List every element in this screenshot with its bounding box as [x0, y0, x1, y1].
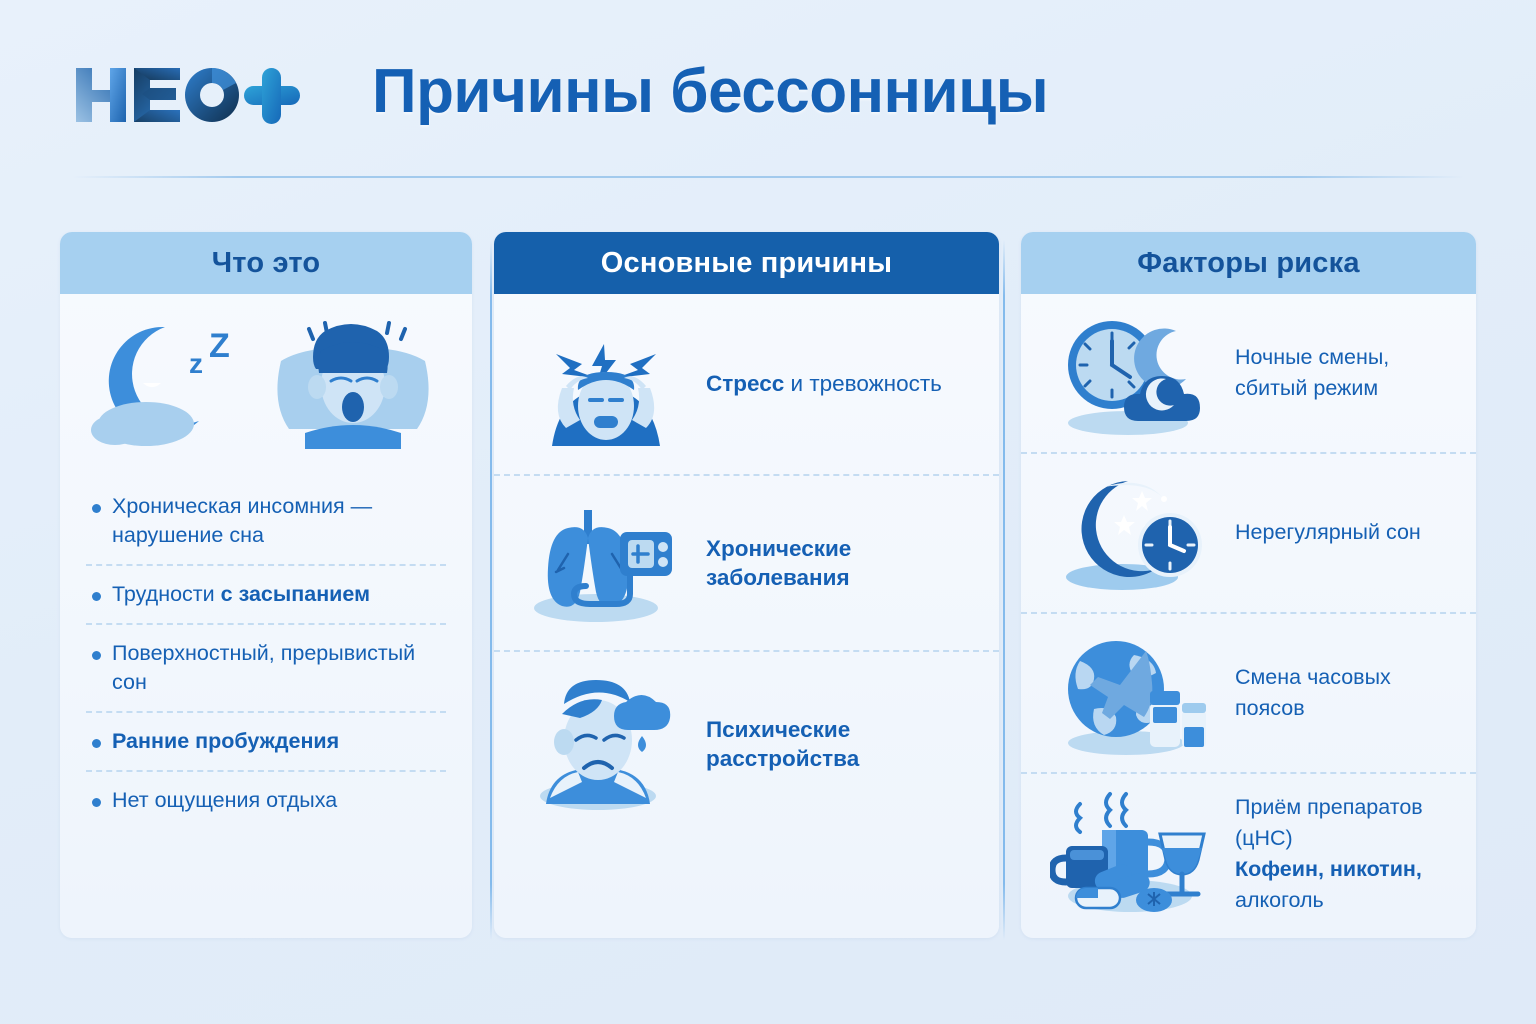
card-body-what-is-it: z Z [60, 294, 472, 938]
list-item: Смена часовых поясов [1021, 614, 1476, 774]
list-item: Ночные смены, сбитый режим [1021, 294, 1476, 454]
cause-label: Психические расстройства [706, 715, 973, 774]
sad-face-raincloud-icon [520, 674, 692, 814]
card-main-causes: Основные причины [494, 232, 999, 938]
list-item: Хронические заболевания [494, 476, 999, 652]
card-body-risk-factors: Ночные смены, сбитый режим [1021, 294, 1476, 938]
bullet-dot-icon [92, 504, 101, 513]
risk-label: Приём препаратов (цНС) Кофеин, никотин, … [1235, 792, 1454, 917]
what-is-it-bullet-list: Хроническая инсомния — нарушение сна Тру… [60, 462, 472, 829]
svg-text:z: z [189, 348, 203, 379]
header-divider [72, 176, 1464, 178]
what-is-it-illustration: z Z [60, 294, 472, 462]
clock-moon-cloud-icon [1043, 309, 1223, 437]
coffee-wine-pills-icon [1043, 788, 1223, 920]
bullet-label: Нет ощущения отдыха [112, 786, 337, 815]
globe-airplane-pills-icon [1043, 629, 1223, 757]
list-item: Нерегулярный сон [1021, 454, 1476, 614]
card-header-risk-factors: Факторы риска [1021, 232, 1476, 294]
columns-container: Что это z Z [0, 232, 1536, 938]
bullet-label: Трудности с засыпанием [112, 580, 370, 609]
bullet-dot-icon [92, 651, 101, 660]
list-item: Трудности с засыпанием [86, 566, 446, 625]
crescent-moon-stars-clock-icon [1043, 469, 1223, 597]
card-what-is-it: Что это z Z [60, 232, 472, 938]
list-item: Поверхностный, прерывистый сон [86, 625, 446, 713]
card-header-what-is-it: Что это [60, 232, 472, 294]
list-item: Приём препаратов (цНС) Кофеин, никотин, … [1021, 774, 1476, 934]
card-body-main-causes: Стресс и тревожность [494, 294, 999, 938]
lungs-blood-pressure-icon [520, 498, 692, 628]
list-item: Ранние пробуждения [86, 713, 446, 772]
bullet-dot-icon [92, 592, 101, 601]
risk-sublabel: Кофеин, никотин, алкоголь [1235, 854, 1454, 916]
page-header: Причины бессонницы [0, 0, 1536, 178]
page-title: Причины бессонницы [372, 56, 1048, 127]
list-item: Хроническая инсомния — нарушение сна [86, 478, 446, 566]
stressed-head-lightning-icon [520, 316, 692, 452]
risk-label: Нерегулярный сон [1235, 517, 1421, 548]
neo-plus-logo[interactable] [72, 62, 302, 128]
card-header-main-causes: Основные причины [494, 232, 999, 294]
bullet-dot-icon [92, 798, 101, 807]
yawning-person-icon [265, 309, 441, 459]
neo-plus-logo-icon [72, 62, 302, 128]
bullet-label: Ранние пробуждения [112, 727, 339, 756]
moon-zzz-icon: z Z [91, 309, 259, 459]
card-risk-factors: Факторы риска [1021, 232, 1476, 938]
list-item: Стресс и тревожность [494, 294, 999, 476]
risk-label: Ночные смены, сбитый режим [1235, 342, 1389, 404]
bullet-dot-icon [92, 739, 101, 748]
cause-label: Хронические заболевания [706, 534, 973, 593]
cause-label: Стресс и тревожность [706, 369, 942, 398]
bullet-label: Хроническая инсомния — нарушение сна [112, 492, 446, 550]
list-item: Нет ощущения отдыха [86, 772, 446, 829]
svg-text:Z: Z [209, 327, 230, 365]
bullet-label: Поверхностный, прерывистый сон [112, 639, 446, 697]
risk-label: Смена часовых поясов [1235, 662, 1454, 724]
list-item: Психические расстройства [494, 652, 999, 836]
